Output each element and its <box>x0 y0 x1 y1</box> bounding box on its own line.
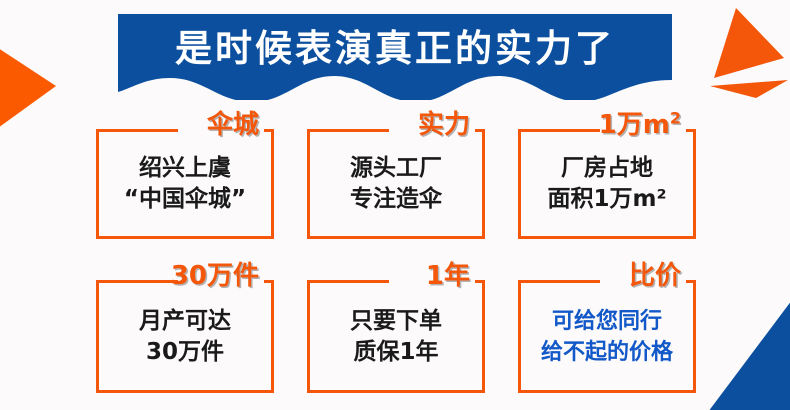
card-body: 可给您同行 给不起的价格 <box>521 283 693 390</box>
banner-title: 是时候表演真正的实力了 <box>118 14 672 86</box>
feature-card-strength[interactable]: 实力 源头工厂 专注造伞 <box>307 129 485 239</box>
card-line: 厂房占地 <box>561 154 653 183</box>
card-line: 只要下单 <box>350 307 442 336</box>
header-banner: 是时候表演真正的实力了 <box>118 14 672 100</box>
card-line: 绍兴上虞 <box>139 154 231 183</box>
promo-poster: 是时候表演真正的实力了 伞城 绍兴上虞 “中国伞城” 实力 源头工厂 专注造伞 … <box>0 0 790 410</box>
card-title-superscript: 2 <box>670 108 681 127</box>
card-line: 月产可达 <box>139 307 231 336</box>
triangle-top-left-icon <box>0 48 60 128</box>
triangle-bottom-right-icon <box>700 300 790 410</box>
feature-card-price[interactable]: 比价 可给您同行 给不起的价格 <box>518 280 696 393</box>
card-line: 给不起的价格 <box>541 338 673 367</box>
card-body: 源头工厂 专注造伞 <box>310 132 482 236</box>
card-line: 专注造伞 <box>350 185 442 214</box>
card-body: 绍兴上虞 “中国伞城” <box>99 132 271 236</box>
feature-card-warranty[interactable]: 1年 只要下单 质保1年 <box>307 280 485 393</box>
card-body: 厂房占地 面积1万m² <box>521 132 693 236</box>
card-line: 质保1年 <box>353 338 438 367</box>
card-body: 月产可达 30万件 <box>99 283 271 390</box>
feature-card-umbrella-city[interactable]: 伞城 绍兴上虞 “中国伞城” <box>96 129 274 239</box>
feature-card-grid: 伞城 绍兴上虞 “中国伞城” 实力 源头工厂 专注造伞 1万m2 厂房占地 面积… <box>96 129 696 393</box>
card-line: 面积1万m² <box>547 185 666 214</box>
card-line: 源头工厂 <box>350 154 442 183</box>
card-line: 30万件 <box>146 338 224 367</box>
feature-card-area[interactable]: 1万m2 厂房占地 面积1万m² <box>518 129 696 239</box>
card-body: 只要下单 质保1年 <box>310 283 482 390</box>
feature-card-output[interactable]: 30万件 月产可达 30万件 <box>96 280 274 393</box>
card-line: 可给您同行 <box>552 307 662 336</box>
triangle-top-right-icon <box>698 6 788 98</box>
card-line: “中国伞城” <box>124 185 246 214</box>
